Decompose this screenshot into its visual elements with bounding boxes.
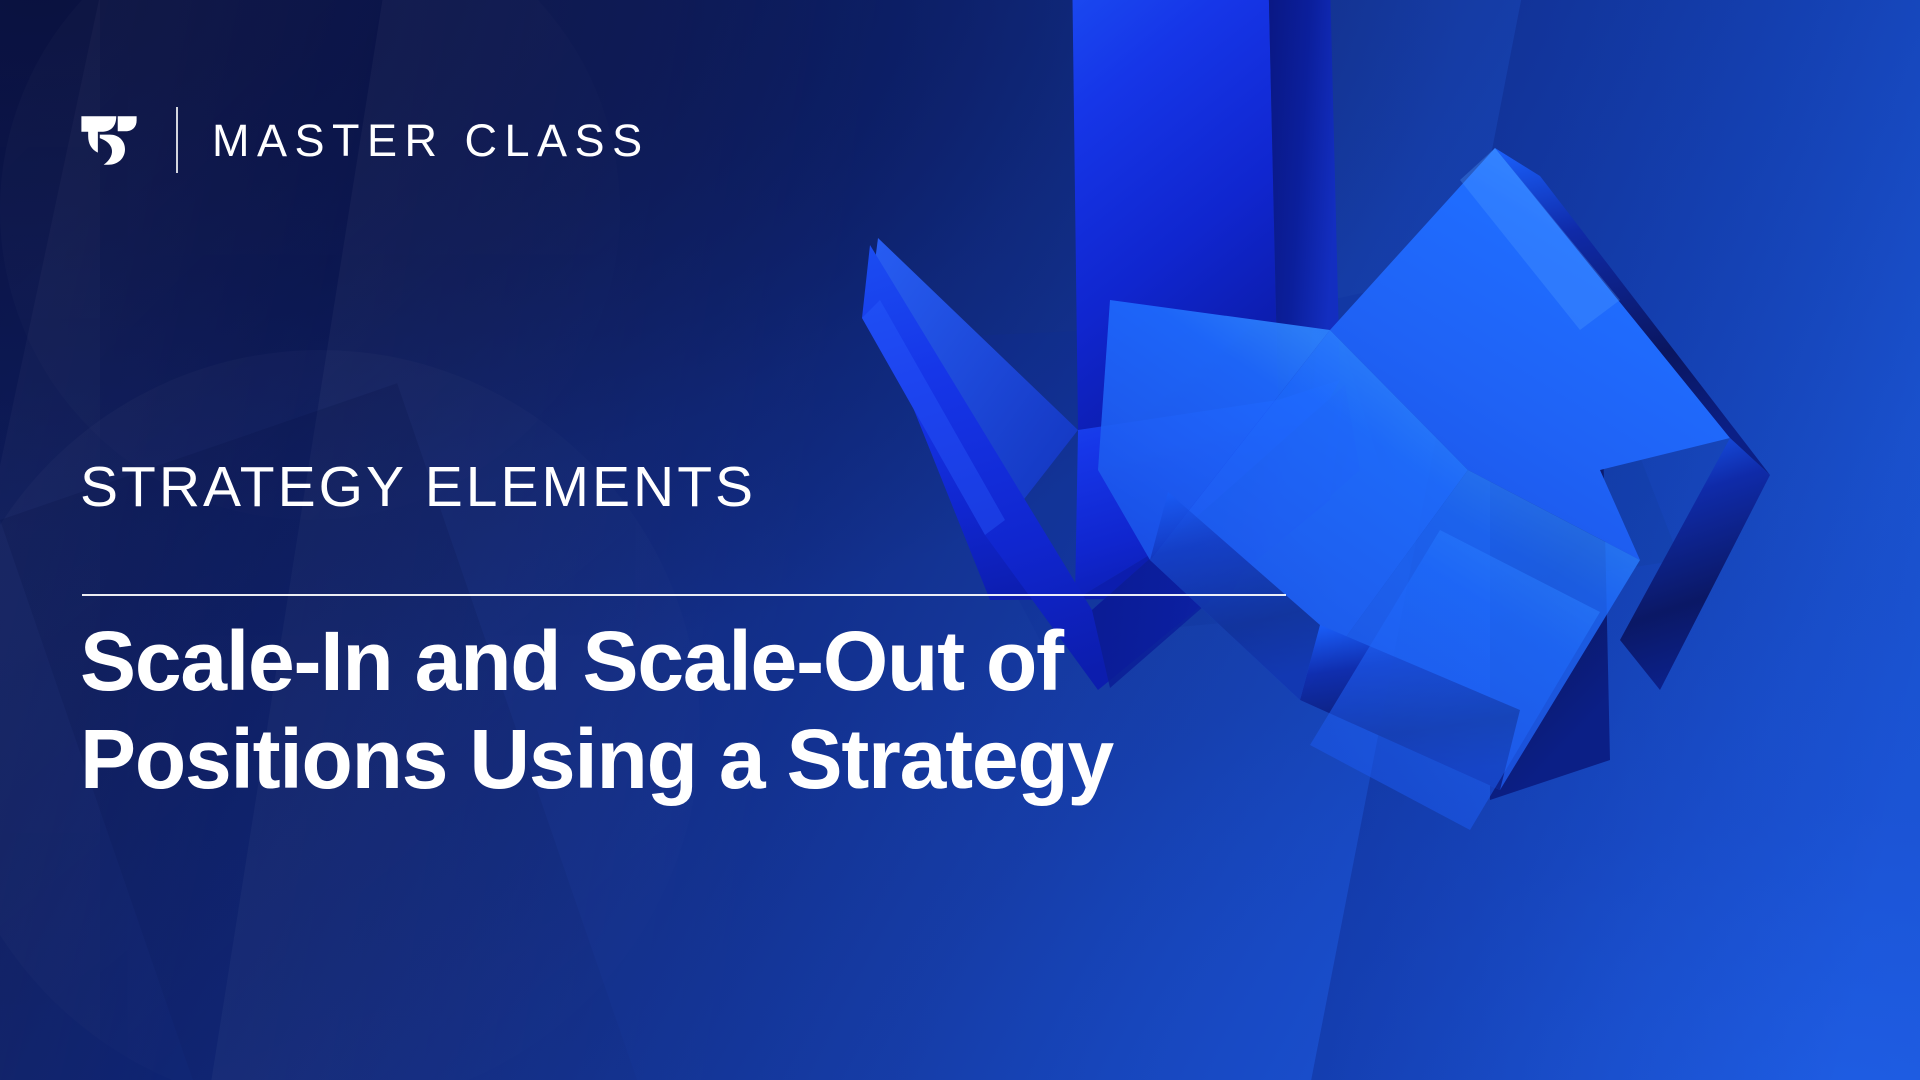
tradestation-ts-monogram-icon — [78, 109, 140, 171]
vertical-divider-icon — [176, 107, 178, 173]
title-line-2: Positions Using a Strategy — [80, 710, 1640, 808]
program-label: MASTER CLASS — [212, 118, 650, 163]
title-divider-rule — [82, 594, 1286, 596]
title-line-1: Scale-In and Scale-Out of — [80, 612, 1640, 710]
eyebrow-label: STRATEGY ELEMENTS — [80, 459, 756, 516]
brand-bar: MASTER CLASS — [78, 104, 650, 176]
master-class-title-card: MASTER CLASS STRATEGY ELEMENTS Scale-In … — [0, 0, 1920, 1080]
page-title: Scale-In and Scale-Out of Positions Usin… — [80, 612, 1640, 809]
